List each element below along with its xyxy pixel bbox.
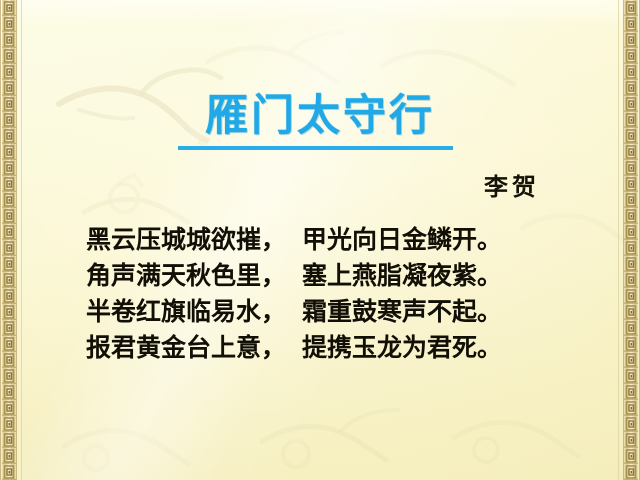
title-underline [178,146,453,150]
poem-line: 黑云压城城欲摧，甲光向日金鳞开。 [86,222,586,258]
poem-line: 角声满天秋色里，塞上燕脂凝夜紫。 [86,258,586,294]
slide-content: 雁门太守行 李贺 黑云压城城欲摧，甲光向日金鳞开。 角声满天秋色里，塞上燕脂凝夜… [0,0,640,480]
poem-line-second-half: 甲光向日金鳞开。 [302,225,502,254]
poem-slide: 雁门太守行 李贺 黑云压城城欲摧，甲光向日金鳞开。 角声满天秋色里，塞上燕脂凝夜… [0,0,640,480]
poem-line-second-half: 霜重鼓寒声不起。 [302,297,502,326]
poem-line: 报君黄金台上意，提携玉龙为君死。 [86,330,586,366]
poem-body: 黑云压城城欲摧，甲光向日金鳞开。 角声满天秋色里，塞上燕脂凝夜紫。 半卷红旗临易… [86,222,586,366]
poem-line: 半卷红旗临易水，霜重鼓寒声不起。 [86,294,586,330]
poem-line-second-half: 提携玉龙为君死。 [302,333,502,362]
poem-author: 李贺 [0,175,540,199]
poem-line-first-half: 黑云压城城欲摧， [86,225,286,254]
poem-line-second-half: 塞上燕脂凝夜紫。 [302,261,502,290]
poem-line-first-half: 半卷红旗临易水， [86,297,286,326]
poem-line-first-half: 报君黄金台上意， [86,333,286,362]
page-title: 雁门太守行 [0,95,640,138]
poem-line-first-half: 角声满天秋色里， [86,261,286,290]
